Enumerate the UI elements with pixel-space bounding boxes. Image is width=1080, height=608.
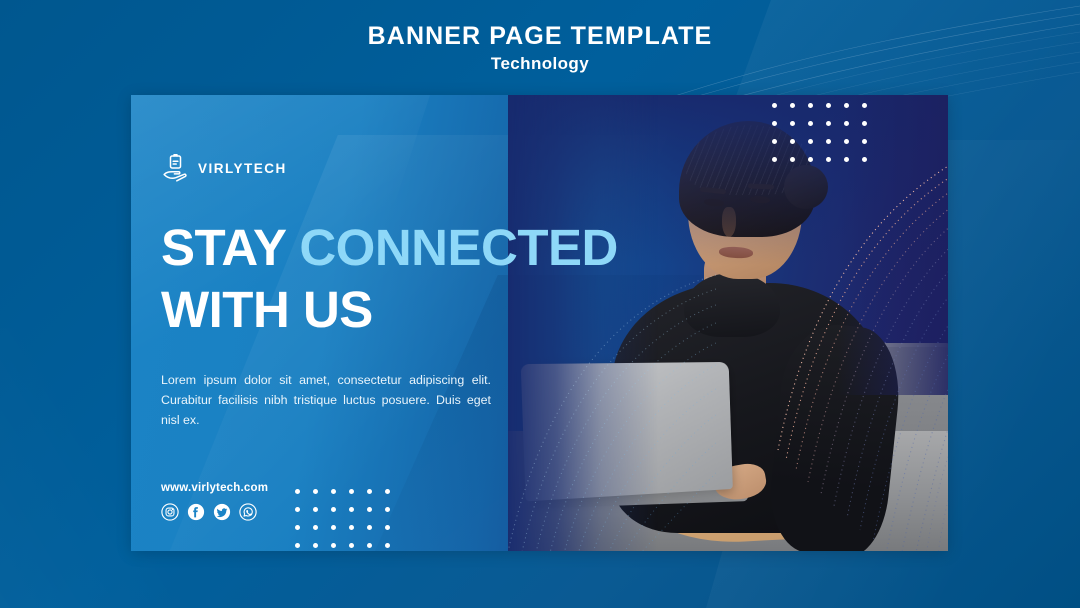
- brand-logo[interactable]: VIRLYTECH: [161, 153, 287, 183]
- photo-fade-right: [838, 95, 948, 395]
- whatsapp-icon[interactable]: [239, 503, 257, 521]
- facebook-icon[interactable]: [187, 503, 205, 521]
- headline: STAY CONNECTED WITH US: [161, 223, 631, 335]
- banner-template-page: BANNER PAGE TEMPLATE Technology: [0, 0, 1080, 608]
- brand-name: VIRLYTECH: [198, 161, 287, 176]
- social-links: [161, 503, 257, 521]
- headline-line-2: WITH US: [161, 285, 631, 335]
- banner-description: Lorem ipsum dolor sit amet, consectetur …: [161, 370, 491, 430]
- instagram-icon[interactable]: [161, 503, 179, 521]
- headline-word-connected: CONNECTED: [299, 219, 618, 276]
- banner-content: VIRLYTECH STAY CONNECTED WITH US Lorem i…: [161, 95, 631, 551]
- banner-card: VIRLYTECH STAY CONNECTED WITH US Lorem i…: [131, 95, 948, 551]
- page-title: BANNER PAGE TEMPLATE: [368, 24, 713, 49]
- page-header: BANNER PAGE TEMPLATE Technology: [0, 0, 1080, 95]
- hand-holding-device-icon: [161, 153, 189, 183]
- twitter-icon[interactable]: [213, 503, 231, 521]
- headline-line-1: STAY CONNECTED: [161, 223, 631, 273]
- headline-word-stay: STAY: [161, 219, 299, 276]
- website-url[interactable]: www.virlytech.com: [161, 482, 268, 494]
- page-subtitle: Technology: [491, 55, 589, 72]
